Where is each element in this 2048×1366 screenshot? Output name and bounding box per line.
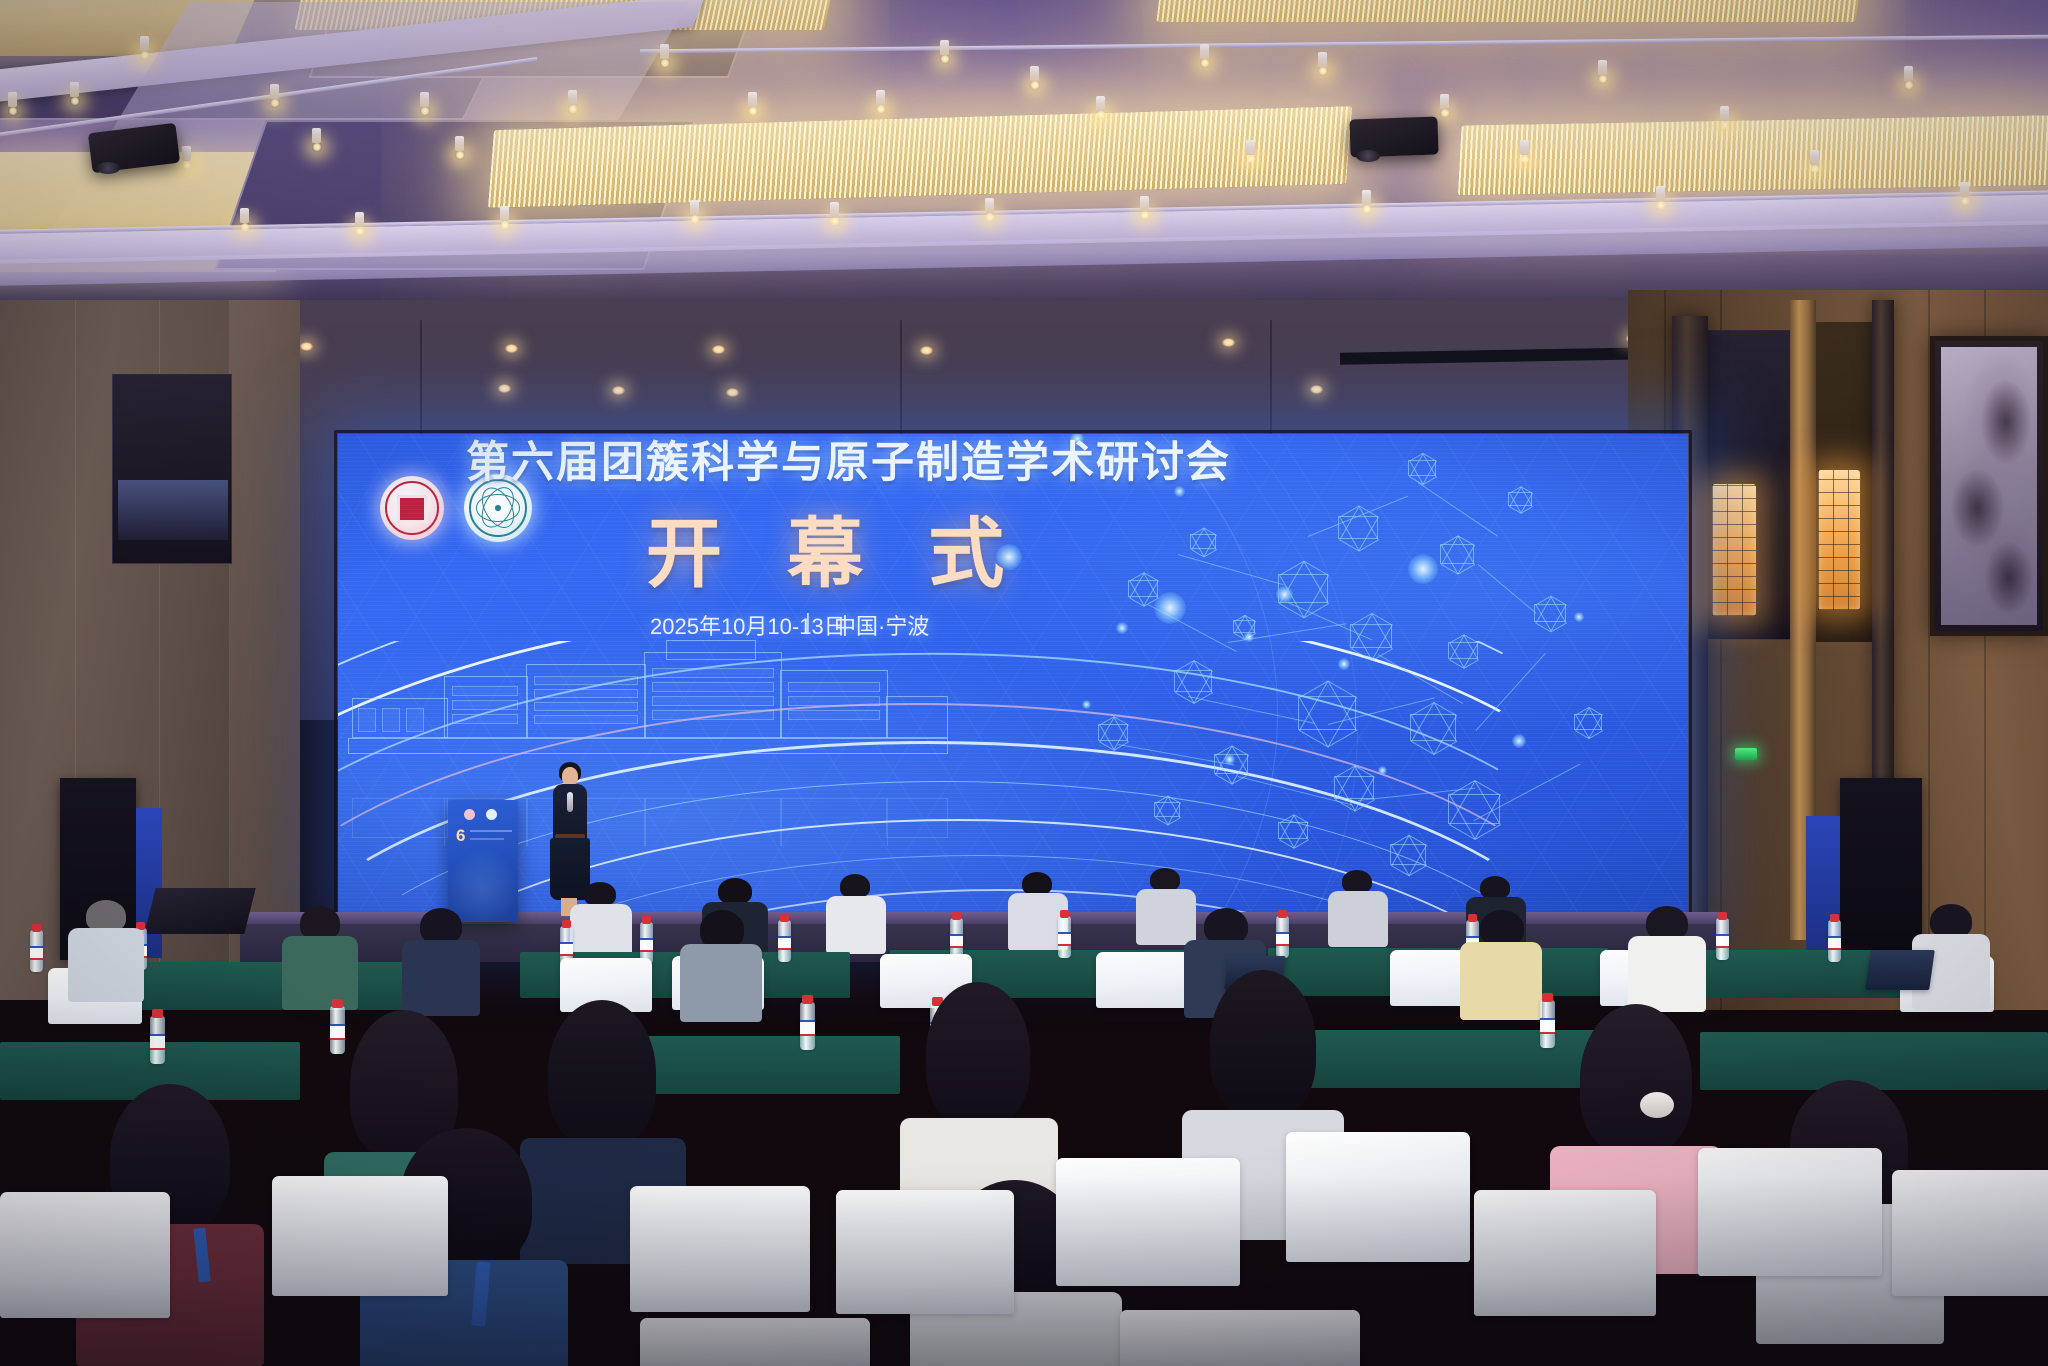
water-bottle bbox=[30, 930, 43, 972]
exit-sign bbox=[1735, 748, 1757, 760]
track-spotlight bbox=[1246, 154, 1256, 164]
podium-logo-white-dot bbox=[486, 809, 497, 820]
track-spotlight bbox=[8, 106, 18, 116]
conference-photo: 第六届团簇科学与原子制造学术研讨会 开 幕 式 2025年10月10-13日 |… bbox=[0, 0, 2048, 1366]
track-spotlight bbox=[1096, 110, 1106, 120]
conference-title: 第六届团簇科学与原子制造学术研讨会 bbox=[466, 434, 1231, 490]
track-spotlight bbox=[1140, 210, 1150, 220]
track-spotlight bbox=[985, 212, 995, 222]
podium-logo-red-dot bbox=[464, 809, 475, 820]
track-spotlight bbox=[355, 226, 365, 236]
audience-chair bbox=[1698, 1148, 1882, 1276]
stage-monitor-wedge bbox=[144, 888, 255, 934]
audience-chair bbox=[1096, 952, 1190, 1008]
lantern-sconce bbox=[1712, 484, 1756, 616]
water-bottle bbox=[1276, 916, 1289, 958]
track-spotlight bbox=[1520, 154, 1530, 164]
chinese-ink-landscape-painting bbox=[1930, 336, 2048, 636]
track-spotlight bbox=[455, 150, 465, 160]
track-spotlight bbox=[240, 222, 250, 232]
track-spotlight bbox=[1200, 58, 1210, 68]
audience-chair bbox=[1120, 1310, 1360, 1366]
water-bottle bbox=[150, 1016, 165, 1064]
audience-chair bbox=[272, 1176, 448, 1296]
track-spotlight bbox=[876, 104, 886, 114]
audience-chair bbox=[1474, 1190, 1656, 1316]
track-spotlight bbox=[1318, 66, 1328, 76]
track-spotlight bbox=[1030, 80, 1040, 90]
track-spotlight bbox=[1904, 80, 1914, 90]
audience-chair bbox=[1892, 1170, 2048, 1296]
water-bottle bbox=[330, 1006, 345, 1054]
opening-ceremony-headline: 开 幕 式 bbox=[646, 492, 1026, 602]
track-spotlight bbox=[1810, 164, 1820, 174]
ningbo-university-seal-logo bbox=[380, 476, 444, 540]
track-spotlight bbox=[140, 50, 150, 60]
track-spotlight bbox=[312, 142, 322, 152]
audience-chair bbox=[630, 1186, 810, 1312]
track-spotlight bbox=[270, 98, 280, 108]
audience-chair bbox=[0, 1192, 170, 1318]
track-spotlight bbox=[182, 160, 192, 170]
track-spotlight bbox=[1440, 108, 1450, 118]
track-spotlight bbox=[1362, 204, 1372, 214]
campus-building-line-art bbox=[348, 656, 948, 762]
audience-chair bbox=[1286, 1132, 1470, 1262]
track-spotlight bbox=[1720, 120, 1730, 130]
speaker-podium: 6 bbox=[448, 800, 518, 922]
event-location: 中国·宁波 bbox=[834, 609, 929, 641]
track-spotlight bbox=[940, 54, 950, 64]
podium-edition-numeral: 6 bbox=[456, 826, 465, 846]
water-bottle bbox=[1828, 920, 1841, 962]
banquet-table bbox=[1700, 1032, 2048, 1090]
audience-chair bbox=[836, 1190, 1014, 1314]
track-spotlight bbox=[568, 104, 578, 114]
track-spotlight bbox=[1656, 200, 1666, 210]
audience-chair bbox=[640, 1318, 870, 1366]
track-spotlight bbox=[830, 216, 840, 226]
line-array-speaker-stack-right bbox=[1840, 778, 1922, 964]
track-spotlight bbox=[690, 214, 700, 224]
track-spotlight bbox=[500, 220, 510, 230]
hair-scrunchie bbox=[1640, 1092, 1674, 1118]
water-bottle bbox=[800, 1002, 815, 1050]
water-bottle bbox=[1716, 918, 1729, 960]
track-spotlight bbox=[660, 58, 670, 68]
event-date: 2025年10月10-13日 bbox=[650, 609, 846, 641]
attendee-laptop bbox=[1865, 950, 1935, 990]
track-spotlight bbox=[748, 106, 758, 116]
track-spotlight bbox=[1598, 74, 1608, 84]
water-bottle bbox=[1540, 1000, 1555, 1048]
track-spotlight bbox=[420, 106, 430, 116]
lantern-sconce bbox=[1818, 470, 1860, 610]
water-bottle bbox=[1058, 916, 1071, 958]
led-stage-screen: 第六届团簇科学与原子制造学术研讨会 开 幕 式 2025年10月10-13日 |… bbox=[338, 434, 1688, 926]
water-bottle bbox=[778, 920, 791, 962]
chandelier-upper-right bbox=[1156, 0, 1864, 22]
track-spotlight bbox=[70, 96, 80, 106]
banquet-table bbox=[110, 962, 440, 1010]
date-location-separator: | bbox=[805, 609, 811, 635]
campus-line-art-reflection bbox=[348, 760, 948, 846]
track-spotlight bbox=[1960, 196, 1970, 206]
presenter-microphone bbox=[567, 792, 573, 812]
audience-chair bbox=[1056, 1158, 1240, 1286]
